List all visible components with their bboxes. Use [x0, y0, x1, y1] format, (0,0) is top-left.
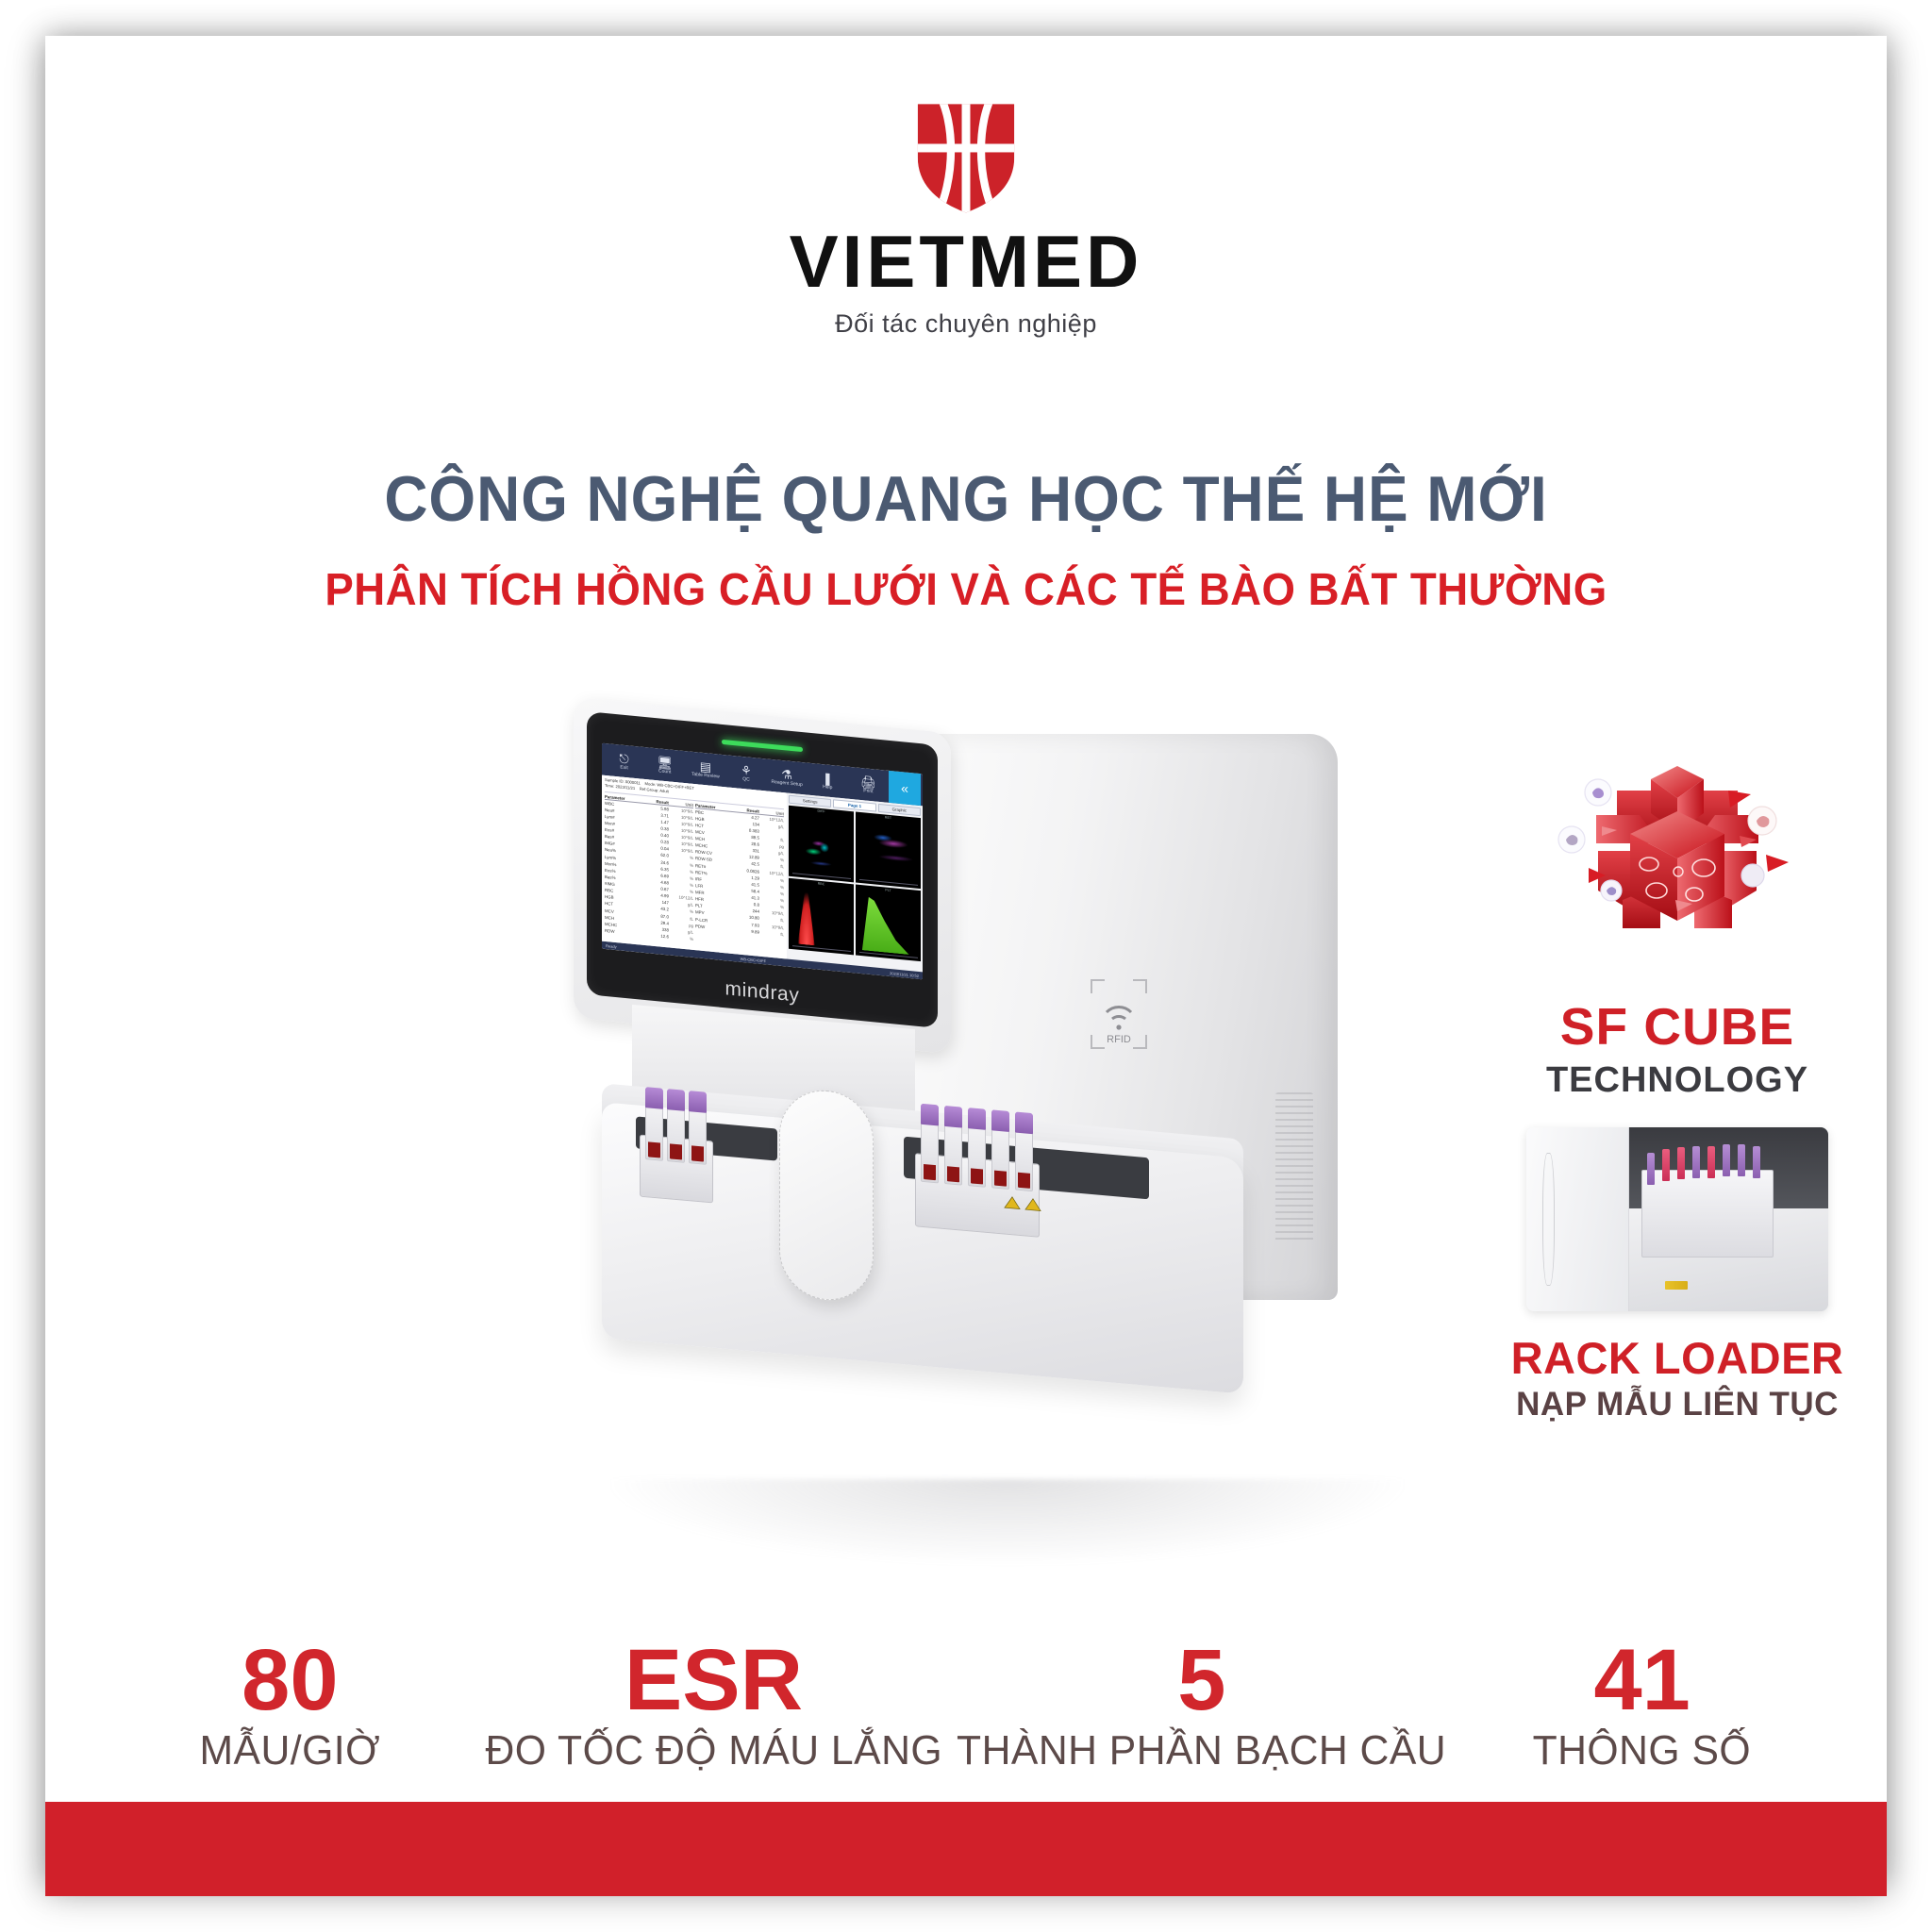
stat-label: THÔNG SỐ: [1459, 1727, 1824, 1774]
results-tables: Parameter Result Unit WBC5.9810^9/LNeu#3…: [605, 794, 784, 952]
plot-rbc-histogram: RBC: [789, 878, 854, 956]
rfid-label: RFID: [1107, 1034, 1131, 1045]
feature-sf-cube-subtitle: TECHNOLOGY: [1479, 1060, 1875, 1101]
tube-blood: [971, 1168, 983, 1184]
toolbar-item-reagent-setup[interactable]: ⚗ Reagent Setup: [767, 765, 808, 789]
sample-tube: [991, 1127, 1009, 1190]
headline-sub: PHÂN TÍCH HỒNG CẦU LƯỚI VÀ CÁC TẾ BÀO BẤ…: [92, 564, 1840, 616]
poster-page: VIETMED Đối tác chuyên nghiệp CÔNG NGHỆ …: [0, 0, 1932, 1932]
results-table-left: Parameter Result Unit WBC5.9810^9/LNeu#3…: [605, 794, 693, 943]
stat-label: MẪU/GIỜ: [108, 1727, 473, 1774]
status-ready: Ready: [606, 943, 617, 949]
stat-label: ĐO TỐC ĐỘ MÁU LẮNG: [485, 1727, 942, 1774]
brand-tagline: Đối tác chuyên nghiệp: [45, 309, 1887, 339]
sample-tube: [921, 1122, 939, 1184]
plot-ret-scattergram: RET: [856, 812, 921, 890]
plot-diff-scattergram: DIFF: [789, 806, 854, 883]
brand-logo-block: VIETMED Đối tác chuyên nghiệp: [45, 94, 1887, 339]
photo-tube: [1647, 1153, 1655, 1185]
stat-number: 80: [102, 1640, 478, 1722]
loader-handle[interactable]: [779, 1088, 874, 1304]
plot-plt-histogram: PLT: [856, 885, 921, 962]
feature-rack-loader-subtitle: NẠP MẪU LIÊN TỤC: [1479, 1386, 1875, 1424]
stat-number: 5: [949, 1640, 1454, 1722]
poster-card: VIETMED Đối tác chuyên nghiệp CÔNG NGHỆ …: [45, 36, 1887, 1885]
tube-blood: [691, 1145, 704, 1161]
tube-cap: [921, 1104, 939, 1126]
footer-red-bar: [45, 1802, 1887, 1896]
photo-tube: [1707, 1146, 1715, 1178]
graphics-panel: Settings Page 1 Graphic DIFF: [787, 793, 923, 973]
plot-axis: [859, 952, 918, 958]
stat-wbc-differential: 5 THÀNH PHẦN BẠCH CẦU: [949, 1640, 1454, 1774]
stat-number: ESR: [478, 1640, 950, 1722]
tube-cap: [968, 1108, 986, 1130]
tube-cap: [991, 1109, 1009, 1132]
status-mode: WB-CBC+DIFF: [741, 956, 766, 963]
results-table-right: Parameter Result Unit PBC4.2710^12/LHGB1…: [695, 803, 784, 952]
toolbar-item-help[interactable]: ❚ Help: [808, 769, 848, 792]
tube-blood: [648, 1141, 660, 1158]
toolbar-item-qc[interactable]: ⚘ QC: [725, 761, 766, 785]
status-led-indicator: [722, 740, 803, 752]
stat-number: 41: [1454, 1640, 1830, 1722]
sample-tube: [689, 1108, 707, 1165]
toolbar-collapse-button[interactable]: «: [889, 771, 921, 806]
brand-name: VIETMED: [45, 225, 1887, 298]
stat-parameters: 41 THÔNG SỐ: [1454, 1640, 1830, 1774]
photo-sample-rack: [1641, 1170, 1774, 1258]
sample-tube: [1015, 1129, 1033, 1191]
photo-tube: [1723, 1144, 1730, 1176]
headline-main: CÔNG NGHỆ QUANG HỌC THẾ HỆ MỚI: [101, 462, 1832, 536]
photo-tube: [1677, 1147, 1685, 1179]
feature-rack-loader-title: RACK LOADER: [1479, 1332, 1875, 1384]
tube-cap: [944, 1106, 962, 1128]
tube-cap: [689, 1091, 707, 1113]
rfid-icon: RFID: [1088, 974, 1150, 1054]
sf-cube-icon: [1536, 753, 1819, 989]
sample-tube: [968, 1125, 986, 1188]
vent-grille: [1275, 1092, 1313, 1243]
results-panel: Sample ID: 0000011 Mode: WB-CBC+DIFF+RET…: [602, 775, 787, 959]
stat-samples-per-hour: 80 MẪU/GIỜ: [102, 1640, 478, 1774]
sample-tube: [645, 1105, 663, 1161]
tube-blood: [1018, 1173, 1030, 1189]
tube-blood: [670, 1143, 682, 1159]
plot-axis: [792, 945, 851, 952]
plot-grid: DIFF RET RBC: [789, 806, 921, 961]
stat-label: THÀNH PHẦN BẠCH CẦU: [957, 1727, 1446, 1774]
tube-cap: [1015, 1111, 1033, 1134]
toolbar-item-print[interactable]: 🖨 Print: [848, 773, 889, 796]
screen-bezel: ⎋ Exit 🖥 Count ▤ Table Review: [587, 711, 938, 1028]
product-analyzer-image: RFID ⎋ Exit 🖥 Count: [574, 715, 1423, 1498]
photo-tube: [1692, 1146, 1700, 1178]
analyzer-screen[interactable]: ⎋ Exit 🖥 Count ▤ Table Review: [602, 743, 923, 980]
stat-esr: ESR ĐO TỐC ĐỘ MÁU LẮNG: [478, 1640, 950, 1774]
photo-tube: [1753, 1146, 1760, 1178]
tube-cap: [667, 1089, 685, 1111]
photo-biohazard-label: [1665, 1281, 1688, 1290]
stats-row: 80 MẪU/GIỜ ESR ĐO TỐC ĐỘ MÁU LẮNG 5 THÀN…: [102, 1640, 1830, 1774]
sample-tube: [944, 1124, 962, 1186]
shield-basketball-icon: [905, 94, 1027, 215]
toolbar-item-exit[interactable]: ⎋ Exit: [604, 750, 644, 774]
tube-blood: [924, 1164, 936, 1180]
sample-tube: [667, 1107, 685, 1163]
toolbar-item-table-review[interactable]: ▤ Table Review: [685, 758, 725, 781]
display-head-unit: ⎋ Exit 🖥 Count ▤ Table Review: [574, 697, 951, 1055]
screen-body: Sample ID: 0000011 Mode: WB-CBC+DIFF+RET…: [602, 775, 923, 973]
tube-blood: [994, 1171, 1007, 1187]
feature-column: SF CUBE TECHNOLOGY RACK LOADER NẠP MẪU L…: [1479, 753, 1875, 1424]
status-timestamp: 2023/11/21 10:52: [890, 971, 919, 978]
feature-sf-cube-title: SF CUBE: [1479, 996, 1875, 1057]
photo-tube: [1662, 1149, 1670, 1181]
photo-tube: [1738, 1144, 1745, 1176]
tube-blood: [947, 1166, 959, 1182]
toolbar-item-count[interactable]: 🖥 Count: [644, 754, 685, 777]
tube-cap: [645, 1087, 663, 1109]
rack-loader-photo: [1526, 1127, 1828, 1311]
collapse-icon: «: [901, 780, 908, 796]
sample-rack-left: [640, 1135, 713, 1204]
